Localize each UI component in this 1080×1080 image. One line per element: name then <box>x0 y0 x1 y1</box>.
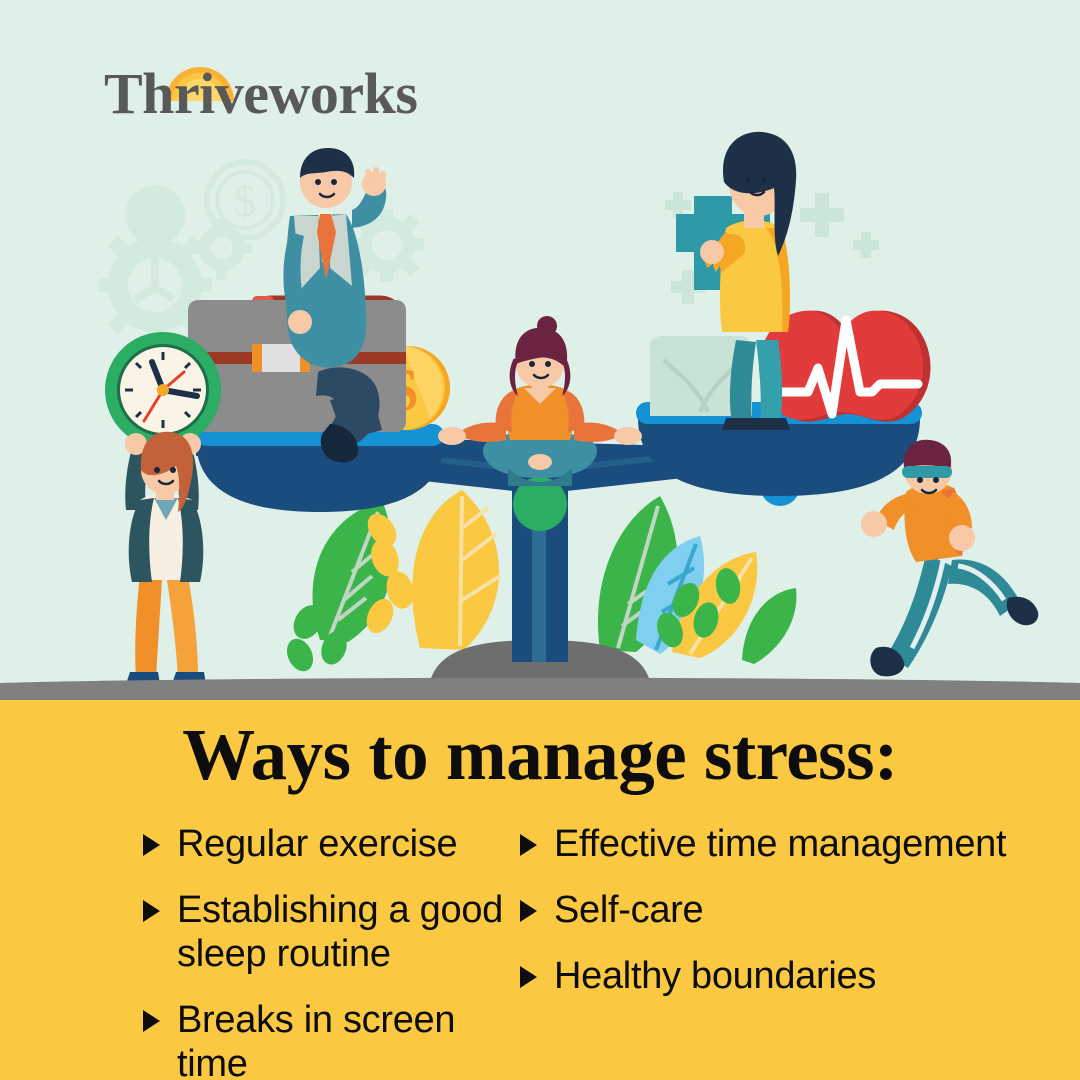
list-item: Breaks in screen time <box>143 998 505 1080</box>
list-item-label: Self-care <box>554 888 703 932</box>
logo-wordmark: Thriveworks <box>104 65 418 123</box>
content-band: Ways to manage stress: Regular exercise … <box>0 700 1080 1080</box>
list-item: Regular exercise <box>143 822 505 866</box>
list-item-label: Regular exercise <box>177 822 457 866</box>
list-item: Self-care <box>520 888 1080 932</box>
list-item: Healthy boundaries <box>520 954 1080 998</box>
tips-column-right: Effective time management Self-care Heal… <box>505 822 1080 1062</box>
poster: $ <box>0 0 1080 1080</box>
list-item: Establishing a good sleep routine <box>143 888 505 976</box>
triangle-right-icon <box>520 834 537 856</box>
tips-column-left: Regular exercise Establishing a good sle… <box>0 822 505 1062</box>
brand-logo[interactable]: Thriveworks <box>104 55 464 135</box>
list-item-label: Effective time management <box>554 822 1006 866</box>
list-item-label: Breaks in screen time <box>177 998 505 1080</box>
list-item-label: Establishing a good sleep routine <box>177 888 505 976</box>
alarm-clock <box>105 332 221 448</box>
triangle-right-icon <box>520 900 537 922</box>
triangle-right-icon <box>520 966 537 988</box>
triangle-right-icon <box>143 834 160 856</box>
list-item: Effective time management <box>520 822 1080 866</box>
tips-lists: Regular exercise Establishing a good sle… <box>0 822 1080 1062</box>
page-title: Ways to manage stress: <box>0 718 1080 791</box>
triangle-right-icon <box>143 900 160 922</box>
list-item-label: Healthy boundaries <box>554 954 876 998</box>
triangle-right-icon <box>143 1010 160 1032</box>
svg-text:$: $ <box>234 175 257 226</box>
